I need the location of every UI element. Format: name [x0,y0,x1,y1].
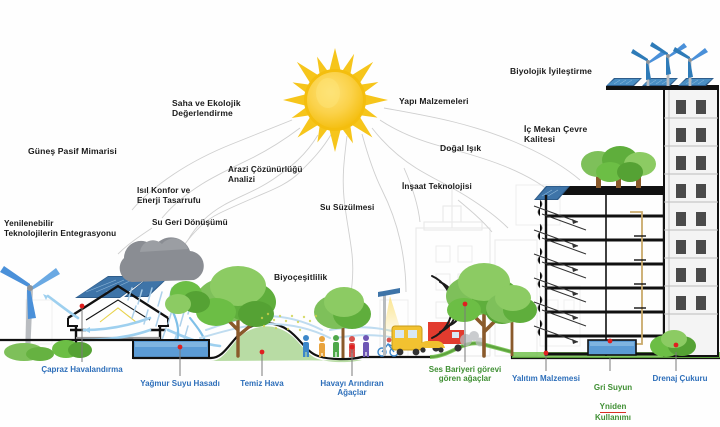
label-insaat-teknolojisi: İnşaat Teknolojisi [402,182,502,192]
label-havayi-arindiran-agaclar: Havayı Arındıran Ağaçlar [305,379,399,398]
label-biyolojik-iyilestirme: Biyolojik İyileştirme [510,66,622,76]
wind-turbine-icon [0,266,60,361]
car-icon [418,341,445,353]
green-roof-trees [581,146,656,188]
label-saha-ve-ekolojik: Saha ve Ekolojik Değerlendirme [172,98,282,118]
label-arazi-cozunurlugu: Arazi Çözünürlüğü Analizi [228,165,332,184]
label-yapi-malzemeleri: Yapı Malzemeleri [399,96,499,106]
label-biyocesitlilik: Biyoçeşitlilik [274,272,354,282]
infographic-canvas: Güneş Pasif Mimarisi Yenilenebilir Tekno… [0,0,720,427]
sun-icon [283,48,388,152]
greywater-line1: Gri Suyun [594,383,632,392]
label-temiz-hava: Temiz Hava [223,379,301,388]
label-capraz-havalandirma: Çapraz Havalandırma [22,365,142,374]
label-su-suzulmesi: Su Süzülmesi [320,203,406,213]
label-drenaj-cukuru: Drenaj Çukuru [638,374,720,383]
rainwater-cistern [133,340,209,358]
label-gunes-pasif-mimarisi: Güneş Pasif Mimarisi [28,146,144,156]
label-ic-mekan-cevre: İç Mekan Çevre Kalitesi [524,124,622,144]
shrub-icon [52,340,92,358]
greywater-line3: Kullanımı [595,413,631,422]
label-dogal-isik: Doğal Işık [440,143,508,153]
greywater-line2-misspelled: Yniden [600,403,627,412]
apartment-section [534,146,664,356]
scene-illustration [0,0,720,427]
label-su-geri-donusumu: Su Geri Dönüşümü [152,218,256,228]
label-yagmur-suyu-hasadi: Yağmur Suyu Hasadı [124,379,236,388]
rain-cloud-icon [120,237,204,282]
label-yenilenebilir-teknolojiler: Yenilenebilir Teknolojilerin Entegrasyon… [4,219,136,238]
label-isil-konfor: Isıl Konfor ve Enerji Tasarrufu [137,186,237,205]
bus-icon [392,326,422,355]
apartment-tower [606,42,718,356]
solar-panel-array [606,78,714,86]
